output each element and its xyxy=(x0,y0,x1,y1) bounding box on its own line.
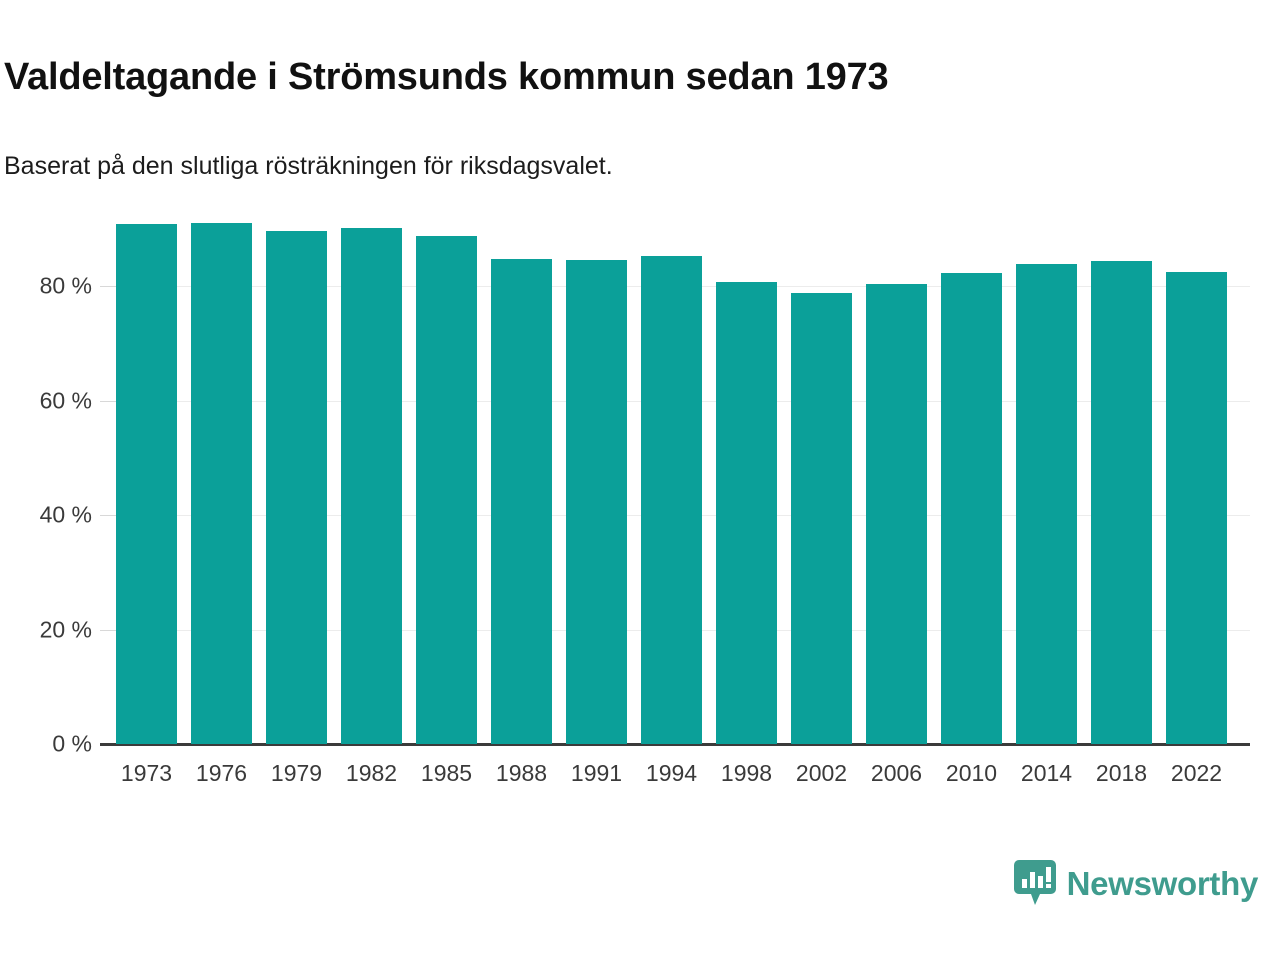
bar-2010[interactable] xyxy=(941,273,1002,744)
bar-1982[interactable] xyxy=(341,228,402,744)
bars-group xyxy=(0,0,1280,820)
bar-2018[interactable] xyxy=(1091,261,1152,744)
x-axis-tick-label: 1998 xyxy=(704,760,789,787)
bar-2022[interactable] xyxy=(1166,272,1227,744)
newsworthy-bar-chart-bubble-icon xyxy=(1014,860,1056,906)
x-axis-tick-label: 1994 xyxy=(629,760,714,787)
bar-1979[interactable] xyxy=(266,231,327,744)
x-axis-tick-label: 2014 xyxy=(1004,760,1089,787)
newsworthy-logo: Newsworthy xyxy=(1014,860,1258,906)
x-axis-tick-label: 2018 xyxy=(1079,760,1164,787)
x-axis-tick-label: 1982 xyxy=(329,760,414,787)
chart-page: Valdeltagande i Strömsunds kommun sedan … xyxy=(0,0,1280,960)
newsworthy-wordmark: Newsworthy xyxy=(1067,867,1258,900)
bar-1976[interactable] xyxy=(191,223,252,744)
x-axis-tick-label: 2010 xyxy=(929,760,1014,787)
bar-1998[interactable] xyxy=(716,282,777,744)
x-axis-tick-label: 2002 xyxy=(779,760,864,787)
bar-2006[interactable] xyxy=(866,284,927,744)
x-axis-tick-label: 1988 xyxy=(479,760,564,787)
x-axis-tick-label: 1973 xyxy=(104,760,189,787)
bar-1994[interactable] xyxy=(641,256,702,744)
x-axis-tick-label: 2006 xyxy=(854,760,939,787)
x-axis-tick-label: 1985 xyxy=(404,760,489,787)
x-axis-tick-label: 2022 xyxy=(1154,760,1239,787)
x-axis-tick-label: 1979 xyxy=(254,760,339,787)
bar-2002[interactable] xyxy=(791,293,852,744)
bar-1985[interactable] xyxy=(416,236,477,744)
bar-1991[interactable] xyxy=(566,260,627,744)
chart-plot-area: 0 %20 %40 %60 %80 % 19731976197919821985… xyxy=(0,0,1280,820)
x-axis-tick-label: 1991 xyxy=(554,760,639,787)
x-axis-tick-label: 1976 xyxy=(179,760,264,787)
bar-1973[interactable] xyxy=(116,224,177,744)
bar-2014[interactable] xyxy=(1016,264,1077,744)
chart-footer: Newsworthy xyxy=(0,840,1280,960)
bar-1988[interactable] xyxy=(491,259,552,744)
